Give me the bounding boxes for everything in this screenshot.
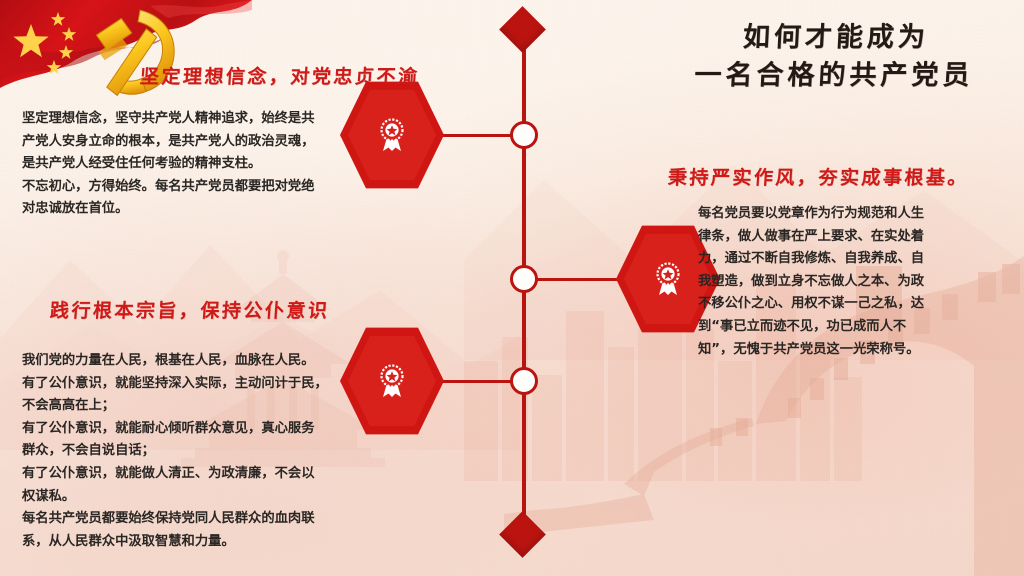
section-1-heading: 坚定理想信念，对党忠贞不渝 [139,62,420,89]
hexagon-badge-1[interactable] [340,77,444,193]
diamond-marker-bottom [499,511,546,558]
connector-node-1 [425,134,515,137]
main-title: 如何才能成为 一名合格的共产党员 [658,18,1012,95]
section-3-body: 我们党的力量在人民，根基在人民，血脉在人民。 有了公仆意识，就能坚持深入实际，主… [22,350,352,553]
medal-ribbon-icon [651,261,685,297]
timeline-vertical-line [522,28,526,548]
timeline-node-3[interactable] [510,367,538,395]
main-title-line-1: 如何才能成为 [660,18,1012,56]
medal-ribbon-icon [375,117,409,153]
diamond-marker-top [499,6,546,53]
main-title-line-2: 一名合格的共产党员 [658,56,1010,94]
timeline-node-1[interactable] [510,121,538,149]
section-2-heading: 秉持严实作风，夯实成事根基。 [667,163,970,190]
section-3-heading: 践行根本宗旨，保持公仆意识 [49,296,330,323]
section-2-body: 每名党员要以党章作为行为规范和人生 律条，做人做事在严上要求、在实处着 力，通过… [698,203,998,361]
connector-node-2 [530,278,622,281]
hexagon-badge-3[interactable] [340,323,444,439]
connector-node-3 [425,380,515,383]
timeline-node-2[interactable] [510,265,538,293]
section-1-body: 坚定理想信念，坚守共产党人精神追求，始终是共 产党人安身立命的根本，是共产党人的… [22,108,342,221]
slide-canvas: 如何才能成为 一名合格的共产党员 坚定理想信念，对党忠贞不渝 坚定理想信念，坚守… [0,0,1024,576]
medal-ribbon-icon [375,363,409,399]
